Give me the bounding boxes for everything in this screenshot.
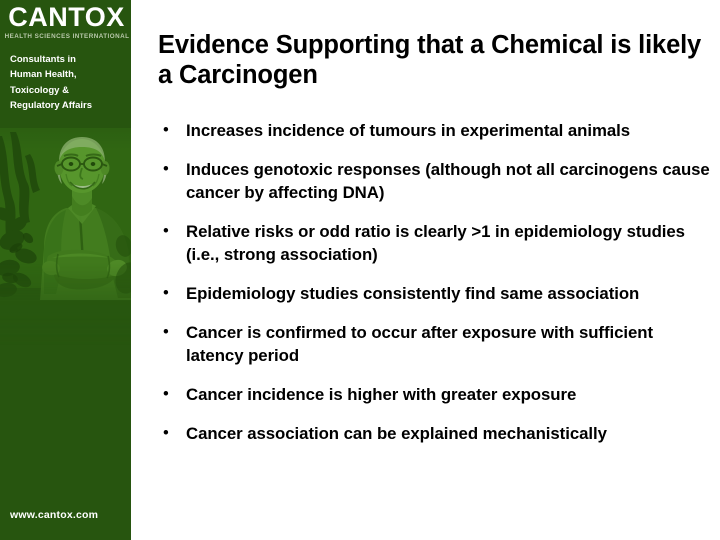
list-item: • Cancer is confirmed to occur after exp… [158,321,714,367]
consultants-line-1: Consultants in [10,52,131,67]
list-item: • Increases incidence of tumours in expe… [158,119,714,142]
brand-tagline: HEALTH SCIENCES INTERNATIONAL [0,33,131,40]
slide-content: Evidence Supporting that a Chemical is l… [131,0,720,540]
consultants-tagline: Consultants in Human Health, Toxicology … [10,52,131,114]
bullet-point-icon: • [158,158,186,181]
sidebar: CANTOX HEALTH SCIENCES INTERNATIONAL Con… [0,0,131,540]
brand-name: CANTOX [0,4,131,32]
list-item-text: Epidemiology studies consistently find s… [186,282,714,305]
list-item-text: Relative risks or odd ratio is clearly >… [186,220,714,266]
consultants-line-3: Toxicology & [10,83,131,98]
bullet-point-icon: • [158,119,186,142]
bullet-point-icon: • [158,220,186,243]
list-item: • Induces genotoxic responses (although … [158,158,714,204]
list-item: • Epidemiology studies consistently find… [158,282,714,305]
bullet-point-icon: • [158,321,186,344]
list-item-text: Increases incidence of tumours in experi… [186,119,714,142]
list-item: • Relative risks or odd ratio is clearly… [158,220,714,266]
list-item: • Cancer association can be explained me… [158,422,714,445]
presentation-slide: CANTOX HEALTH SCIENCES INTERNATIONAL Con… [0,0,720,540]
bullet-point-icon: • [158,282,186,305]
consultants-line-2: Human Health, [10,67,131,82]
brand-logo: CANTOX HEALTH SCIENCES INTERNATIONAL [0,4,131,40]
site-url[interactable]: www.cantox.com [10,509,98,521]
bullet-point-icon: • [158,422,186,445]
consultants-line-4: Regulatory Affairs [10,98,131,113]
bullet-point-icon: • [158,383,186,406]
list-item-text: Induces genotoxic responses (although no… [186,158,714,204]
portrait-photo-graphic [0,128,131,346]
list-item-text: Cancer association can be explained mech… [186,422,714,445]
page-title: Evidence Supporting that a Chemical is l… [158,30,706,90]
portrait-photo [0,128,131,346]
list-item-text: Cancer incidence is higher with greater … [186,383,714,406]
list-item-text: Cancer is confirmed to occur after expos… [186,321,714,367]
list-item: • Cancer incidence is higher with greate… [158,383,714,406]
bullet-list: • Increases incidence of tumours in expe… [158,119,714,461]
